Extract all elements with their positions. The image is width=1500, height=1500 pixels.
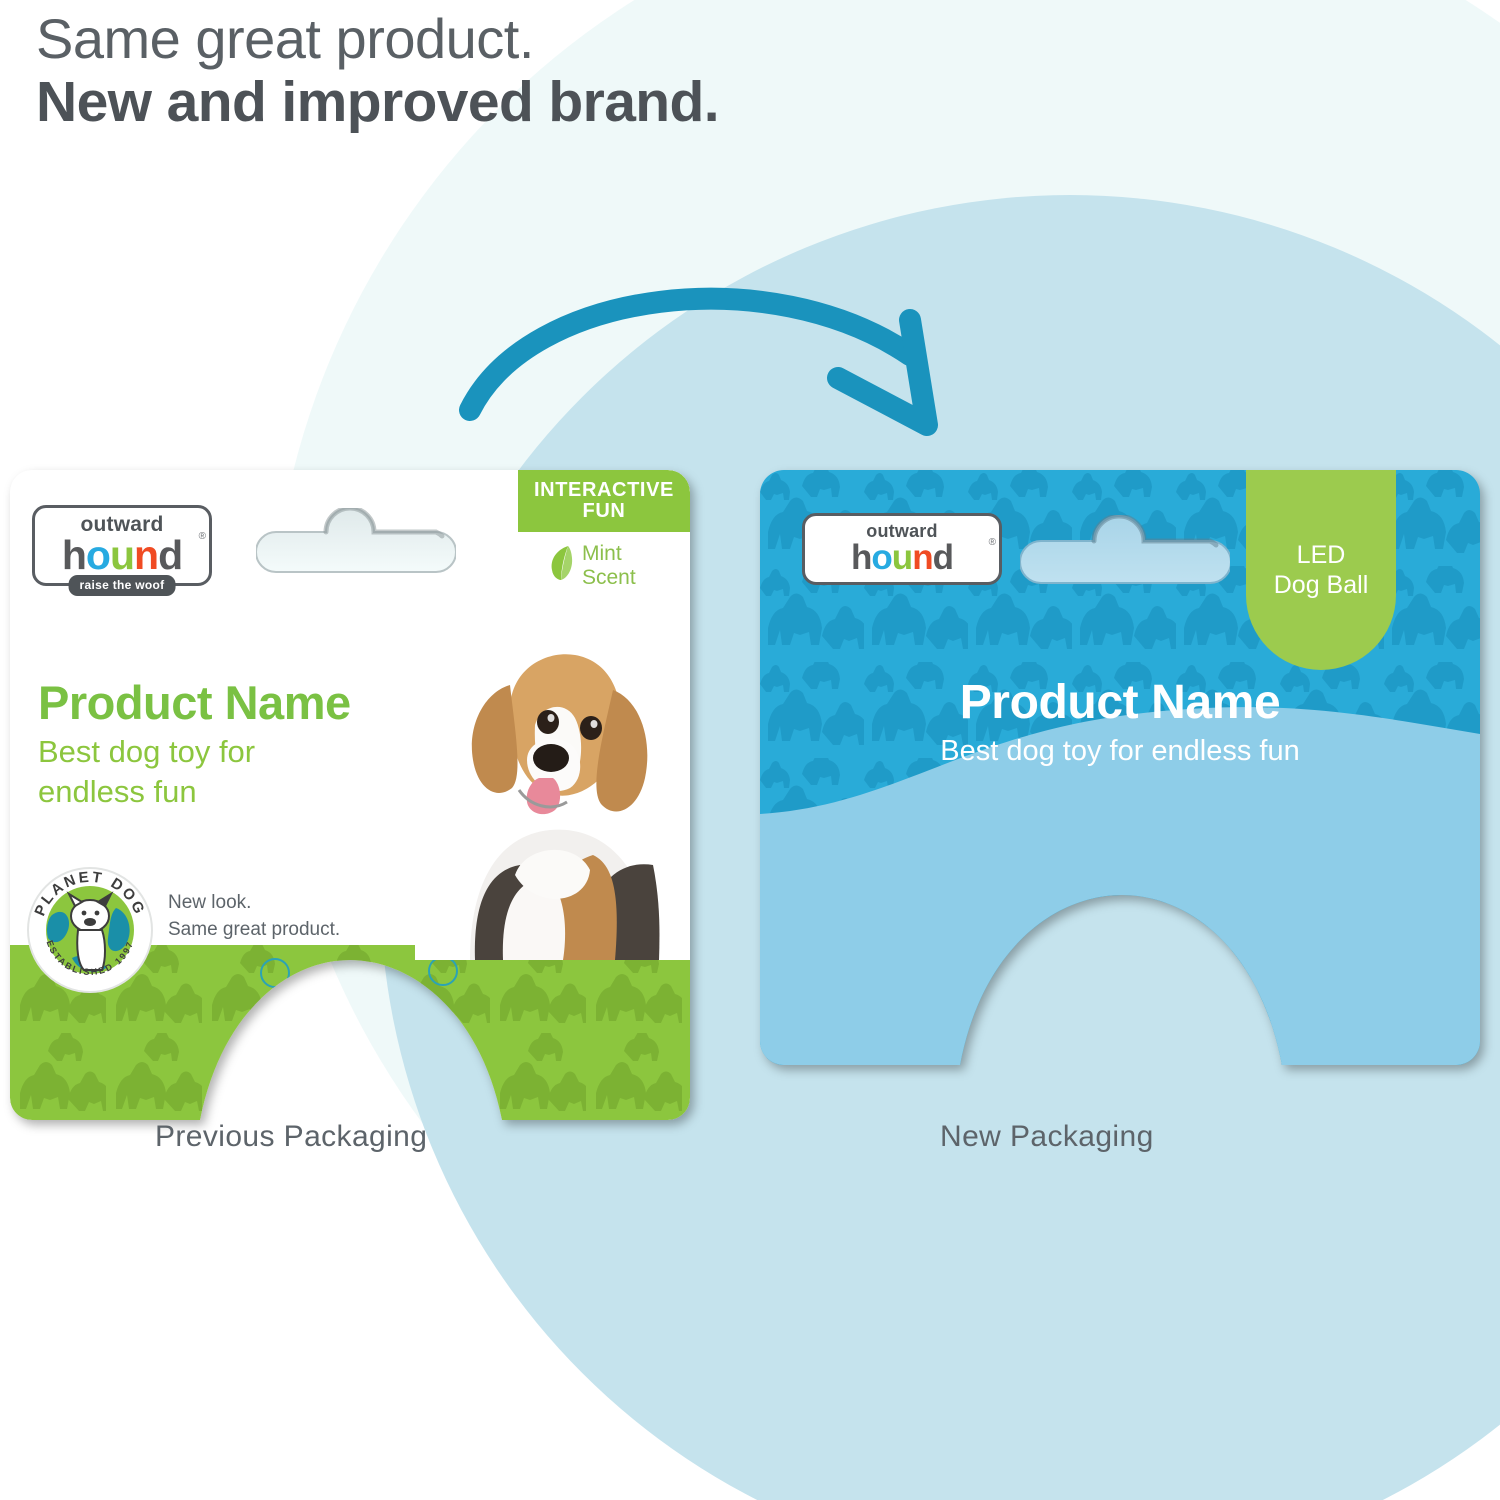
band-circle-1 <box>260 958 290 988</box>
headline-block: Same great product. New and improved bra… <box>36 8 719 133</box>
registered-mark-icon-new: ® <box>989 537 996 548</box>
led-dog-ball-label: LED Dog Ball <box>1274 540 1369 600</box>
legacy-note-line-1: New look. <box>168 892 251 913</box>
previous-tagline-line-2: endless fun <box>38 774 197 809</box>
logo-letter-o: o <box>86 532 110 578</box>
logo-letter-h-new: h <box>851 538 871 577</box>
logo-word-hound-new: hound <box>815 541 989 574</box>
logo-word-hound: hound <box>45 536 199 575</box>
logo-letter-u-new: u <box>892 538 912 577</box>
logo-letter-o-new: o <box>871 538 891 577</box>
band-circle-2 <box>428 956 458 986</box>
legacy-note: New look. Same great product. <box>168 890 340 944</box>
led-dog-ball-tab: LED Dog Ball <box>1246 470 1396 670</box>
mint-scent-block: Mint Scent <box>548 542 676 589</box>
mint-scent-line-1: Mint <box>582 542 622 565</box>
caption-previous-packaging: Previous Packaging <box>155 1120 427 1154</box>
interactive-fun-badge: INTERACTIVE FUN <box>518 470 690 532</box>
logo-letter-d-new: d <box>933 538 953 577</box>
logo-letter-n-new: n <box>912 538 932 577</box>
leaf-icon <box>548 544 574 587</box>
previous-packaging-card[interactable]: INTERACTIVE FUN Mint Scent <box>10 470 690 1120</box>
new-card-surface: LED Dog Ball outward hound ® Produc <box>760 470 1480 1065</box>
new-product-tagline: Best dog toy for endless fun <box>760 735 1480 768</box>
headline-line-1: Same great product. <box>36 8 719 71</box>
page-canvas: Same great product. New and improved bra… <box>0 0 1500 1500</box>
curved-arrow-icon <box>440 250 1000 465</box>
headline-line-2: New and improved brand. <box>36 71 719 134</box>
outward-hound-logo-new: outward hound ® <box>802 513 1002 585</box>
outward-hound-logo-previous: outward hound ® raise the woof <box>32 505 212 586</box>
beagle-dog-photo <box>415 630 690 960</box>
legacy-note-line-2: Same great product. <box>168 919 340 940</box>
interactive-fun-line-1: INTERACTIVE <box>534 480 674 501</box>
registered-mark-icon: ® <box>199 531 206 542</box>
interactive-fun-line-2: FUN <box>583 501 626 522</box>
caption-new-packaging: New Packaging <box>940 1120 1154 1154</box>
previous-product-tagline: Best dog toy for endless fun <box>38 732 338 811</box>
logo-letter-u: u <box>110 532 134 578</box>
new-product-name: Product Name <box>760 675 1480 730</box>
planet-dog-seal-icon: PLANET DOG ESTABLISHED 1997 <box>20 860 160 1000</box>
previous-product-name: Product Name <box>38 675 351 730</box>
mint-scent-line-2: Scent <box>582 566 636 589</box>
hang-hole-cutout-new <box>1020 515 1230 590</box>
hang-hole-cutout-previous <box>256 508 456 579</box>
previous-tagline-line-1: Best dog toy for <box>38 734 255 769</box>
logo-letter-d: d <box>158 532 182 578</box>
logo-tagline-badge: raise the woof <box>69 575 176 596</box>
led-tab-line-1: LED <box>1297 541 1346 569</box>
logo-letter-n: n <box>134 532 158 578</box>
led-tab-line-2: Dog Ball <box>1274 571 1369 599</box>
new-packaging-card[interactable]: LED Dog Ball outward hound ® Produc <box>760 470 1480 1065</box>
logo-letter-h: h <box>62 532 86 578</box>
previous-card-surface: INTERACTIVE FUN Mint Scent <box>10 470 690 1120</box>
mint-scent-label: Mint Scent <box>582 542 636 589</box>
